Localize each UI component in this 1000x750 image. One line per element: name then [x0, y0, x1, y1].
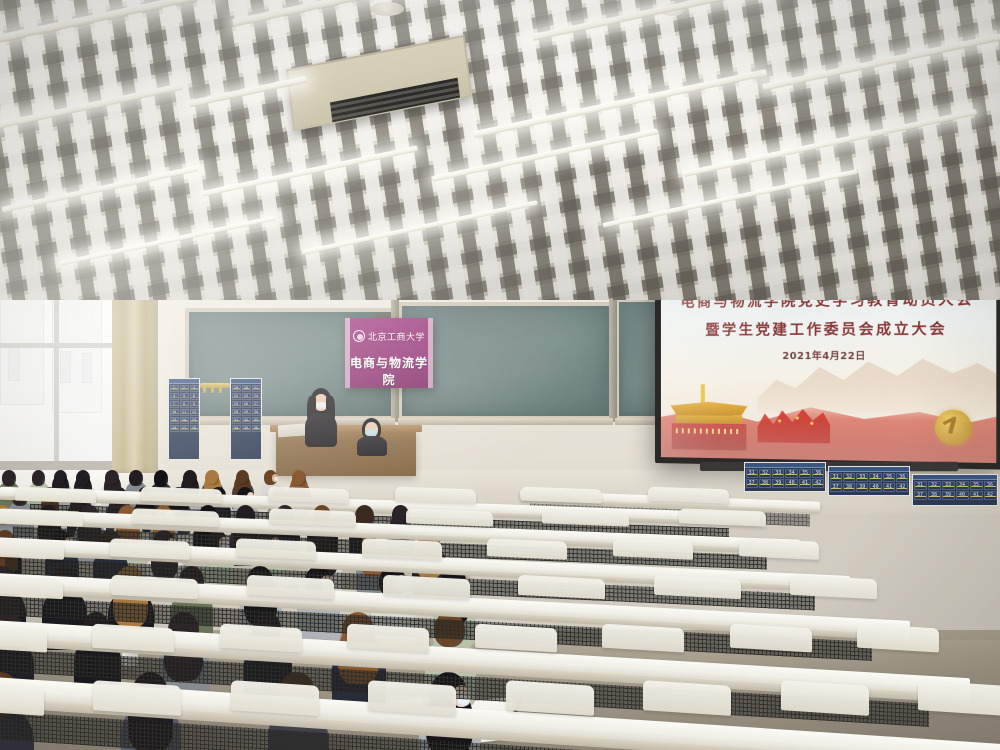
- seat-back: [790, 575, 877, 600]
- phone-pocket[interactable]: 2: [180, 385, 189, 392]
- phone-pocket[interactable]: 42: [812, 479, 824, 488]
- phone-pocket[interactable]: 37: [746, 479, 758, 488]
- pocket-row: 252627: [231, 400, 261, 408]
- phone-pocket[interactable]: 23: [242, 393, 251, 400]
- party-emblem-icon: [934, 409, 971, 445]
- host-face-mask: [365, 429, 377, 436]
- phone-pocket[interactable]: 30: [252, 409, 261, 416]
- pocket-row: 131415: [169, 416, 199, 424]
- phone-pocket[interactable]: 16: [170, 425, 179, 432]
- pocket-row: 313233343536: [913, 480, 997, 490]
- speaker-body: [305, 413, 337, 447]
- phone-pocket[interactable]: 34: [869, 473, 881, 482]
- phone-pocket[interactable]: 37: [914, 491, 927, 500]
- banner-university-name: 北京工商大学: [368, 330, 425, 343]
- phone-pocket[interactable]: 41: [799, 479, 811, 488]
- ceiling: [0, 0, 1000, 300]
- phone-pocket[interactable]: 36: [812, 469, 824, 478]
- seat-back: [92, 623, 174, 652]
- phone-pocket[interactable]: 33: [942, 481, 955, 490]
- seat-back: [654, 575, 741, 600]
- audience-hair: [292, 470, 306, 486]
- phone-pocket[interactable]: 19: [232, 385, 241, 392]
- seat-back: [362, 538, 442, 559]
- pocket-row: 161718: [169, 424, 199, 432]
- phone-pocket[interactable]: 42: [896, 483, 908, 492]
- host-body: [357, 436, 387, 456]
- coat-hook-icon: [219, 387, 222, 393]
- audience-hair: [129, 470, 143, 486]
- phone-pocket[interactable]: 14: [180, 417, 189, 424]
- pocket-row: 222324: [231, 392, 261, 400]
- seat-back: [0, 623, 46, 652]
- audience-hair: [105, 470, 119, 486]
- audience-hair: [32, 470, 46, 486]
- banner-department-name: 电商与物流学院: [345, 354, 433, 388]
- seat-back: [643, 680, 731, 716]
- pocket-row: 373839404142: [745, 478, 825, 488]
- phone-pocket[interactable]: 18: [190, 425, 199, 432]
- phone-pocket[interactable]: 20: [242, 385, 251, 392]
- phone-pocket[interactable]: 22: [232, 393, 241, 400]
- standing-speaker: [304, 388, 338, 444]
- phone-pocket[interactable]: 32: [928, 481, 941, 490]
- pocket-row: 789: [169, 400, 199, 408]
- seat-back: [602, 623, 684, 652]
- phone-pocket[interactable]: 12: [190, 409, 199, 416]
- seat-back: [506, 680, 594, 716]
- phone-pocket[interactable]: 24: [252, 393, 261, 400]
- phone-pocket[interactable]: 25: [232, 401, 241, 408]
- seat-back: [679, 509, 766, 527]
- phone-pocket[interactable]: 11: [180, 409, 189, 416]
- seat-back: [0, 575, 62, 600]
- phone-pocket[interactable]: 13: [170, 417, 179, 424]
- coat-hook-icon: [203, 387, 206, 393]
- seat-back: [368, 680, 456, 716]
- seat-back: [918, 680, 1000, 716]
- seat-back: [857, 623, 939, 652]
- seat-back: [542, 509, 629, 527]
- phone-pocket[interactable]: 4: [170, 393, 179, 400]
- phone-pocket[interactable]: 1: [170, 385, 179, 392]
- phone-pocket[interactable]: 8: [180, 401, 189, 408]
- seat-back: [93, 680, 181, 716]
- phone-pocket[interactable]: 38: [843, 483, 855, 492]
- phone-storage-board[interactable]: 313233343536373839404142: [744, 462, 826, 492]
- phone-pocket[interactable]: 31: [746, 469, 758, 478]
- pocket-row: 313233343536: [829, 472, 909, 482]
- phone-pocket[interactable]: 32: [843, 473, 855, 482]
- audience-hair: [2, 470, 16, 486]
- phone-pocket[interactable]: 38: [928, 491, 941, 500]
- phone-pocket[interactable]: 35: [883, 473, 895, 482]
- phone-pocket[interactable]: 35: [799, 469, 811, 478]
- phone-pocket[interactable]: 21: [252, 385, 261, 392]
- university-logo-icon: [353, 330, 365, 342]
- phone-pocket[interactable]: 6: [190, 393, 199, 400]
- chalk-rail: [398, 418, 613, 425]
- pocket-row: 123: [169, 384, 199, 392]
- phone-pocket[interactable]: 42: [984, 491, 997, 500]
- audience-hair: [183, 470, 197, 486]
- phone-pocket[interactable]: 34: [232, 425, 241, 432]
- seat-back: [268, 486, 349, 502]
- screen-date: 2021年4月22日: [661, 348, 996, 363]
- phone-pocket[interactable]: 41: [883, 483, 895, 492]
- pocket-row: 456: [169, 392, 199, 400]
- phone-pocket[interactable]: 40: [956, 491, 969, 500]
- phone-pocket[interactable]: 29: [242, 409, 251, 416]
- seat-back: [475, 623, 557, 652]
- phone-pocket[interactable]: 36: [252, 425, 261, 432]
- pocket-row: 282930: [231, 408, 261, 416]
- seat-back: [220, 623, 302, 652]
- smoke-detector-icon: [370, 2, 404, 16]
- face-mask: [274, 477, 279, 481]
- phone-pocket[interactable]: 26: [242, 401, 251, 408]
- pocket-row: 313233: [231, 416, 261, 424]
- phone-pocket[interactable]: 34: [785, 469, 797, 478]
- phone-storage-board[interactable]: 192021222324252627282930313233343536: [230, 378, 262, 460]
- seat-back: [648, 486, 729, 502]
- phone-pocket[interactable]: 15: [190, 417, 199, 424]
- coat-hook-icon: [211, 387, 214, 393]
- audience-hair: [76, 470, 90, 487]
- seat-back: [730, 623, 812, 652]
- seat-back: [739, 538, 819, 559]
- audience-hair: [205, 470, 218, 485]
- seat-back: [15, 486, 96, 502]
- phone-pocket[interactable]: 3: [190, 385, 199, 392]
- phone-pocket[interactable]: 38: [759, 479, 771, 488]
- pocket-row: 373839404142: [913, 490, 997, 500]
- phone-pocket[interactable]: 28: [232, 409, 241, 416]
- phone-pocket[interactable]: 27: [252, 401, 261, 408]
- department-banner: 北京工商大学 电商与物流学院: [345, 318, 433, 388]
- phone-storage-board[interactable]: 313233343536373839404142: [912, 474, 998, 506]
- phone-pocket[interactable]: 39: [942, 491, 955, 500]
- pocket-row: 101112: [169, 408, 199, 416]
- phone-pocket[interactable]: 5: [180, 393, 189, 400]
- phone-storage-board[interactable]: 123456789101112131415161718: [168, 378, 200, 460]
- seat-back: [395, 486, 476, 502]
- screen-title-line-2: 暨学生党建工作委员会成立大会: [661, 318, 996, 340]
- phone-pocket[interactable]: 10: [170, 409, 179, 416]
- pocket-row: 373839404142: [829, 482, 909, 492]
- seat-back: [110, 538, 190, 559]
- phone-pocket[interactable]: 31: [232, 417, 241, 424]
- audience-hair: [236, 470, 249, 485]
- phone-pocket[interactable]: 40: [869, 483, 881, 492]
- seat-back: [406, 509, 493, 527]
- phone-pocket[interactable]: 9: [190, 401, 199, 408]
- phone-pocket[interactable]: 39: [856, 483, 868, 492]
- seat-back: [521, 486, 602, 502]
- seat-back: [781, 680, 869, 716]
- phone-pocket[interactable]: 35: [970, 481, 983, 490]
- seat-back: [487, 538, 567, 559]
- seated-host: [357, 418, 387, 452]
- phone-pocket[interactable]: 39: [772, 479, 784, 488]
- seat-back: [231, 680, 319, 716]
- seat-back: [518, 575, 605, 600]
- seat-back: [236, 538, 316, 559]
- phone-pocket[interactable]: 34: [956, 481, 969, 490]
- seat-back: [141, 486, 222, 502]
- phone-pocket[interactable]: 41: [970, 491, 983, 500]
- phone-pocket[interactable]: 32: [242, 417, 251, 424]
- phone-storage-board[interactable]: 313233343536373839404142: [828, 466, 910, 496]
- seat-back: [0, 680, 44, 716]
- phone-pocket[interactable]: 33: [252, 417, 261, 424]
- seat-back: [613, 538, 693, 559]
- phone-pocket[interactable]: 40: [785, 479, 797, 488]
- phone-pocket[interactable]: 37: [830, 483, 842, 492]
- tiananmen-gate-graphic: [667, 388, 751, 450]
- phone-pocket[interactable]: 35: [242, 425, 251, 432]
- seat-back: [347, 623, 429, 652]
- phone-pocket[interactable]: 31: [830, 473, 842, 482]
- lecture-hall-photo: 北京工商大学 电商与物流学院 北京工商大学 电商与物流学院: [0, 0, 1000, 750]
- audience-hair: [154, 470, 168, 487]
- phone-pocket[interactable]: 32: [759, 469, 771, 478]
- audience-hair: [54, 470, 67, 485]
- chalkboard-divider: [609, 296, 617, 422]
- seat-back: [0, 538, 65, 559]
- phone-pocket[interactable]: 17: [180, 425, 189, 432]
- phone-pocket[interactable]: 36: [896, 473, 908, 482]
- pocket-row: 343536: [231, 424, 261, 432]
- phone-pocket[interactable]: 33: [772, 469, 784, 478]
- pocket-row: 313233343536: [745, 468, 825, 478]
- phone-pocket[interactable]: 7: [170, 401, 179, 408]
- desk-row: [0, 710, 1000, 750]
- phone-pocket[interactable]: 33: [856, 473, 868, 482]
- phone-pocket[interactable]: 36: [984, 481, 997, 490]
- phone-pocket[interactable]: 31: [914, 481, 927, 490]
- pocket-row: 192021: [231, 384, 261, 392]
